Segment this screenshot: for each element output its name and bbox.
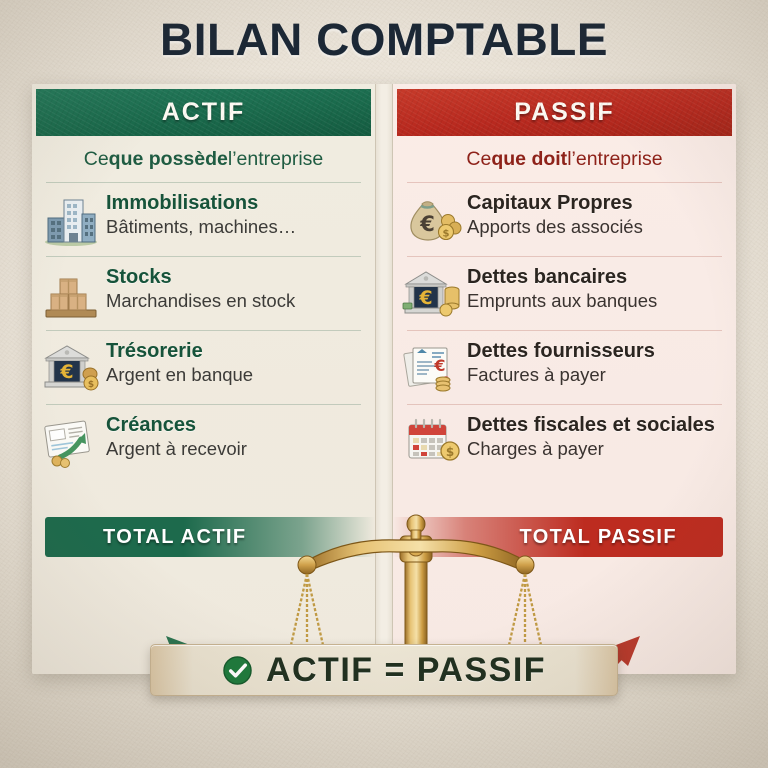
list-item-title: Dettes fournisseurs [467,341,726,363]
list-item-text: Stocks Marchandises en stock [106,266,365,311]
column-divider [375,84,393,674]
svg-text:€: € [433,356,445,375]
assets-subtitle-bold: que possède [109,148,228,171]
bank-coins-euro-icon: € [401,266,463,322]
list-item-text: Créances Argent à recevoir [106,414,365,459]
assets-header-label: ACTIF [162,98,246,127]
total-assets-bar: TOTAL ACTIF [45,517,375,557]
list-item-title: Dettes bancaires [467,267,726,289]
list-item-desc: Apports des associés [467,216,726,238]
list-item-desc: Argent à recevoir [106,438,365,460]
bank-euro-icon: € $ [40,340,102,396]
list-item[interactable]: € Dettes fournisseurs F [393,331,736,404]
liabilities-subtitle-bold: que doit [491,148,567,171]
liabilities-subtitle-prefix: Ce [466,148,491,171]
list-item[interactable]: Créances Argent à recevoir [32,405,375,478]
svg-text:€: € [419,212,435,236]
invoice-arrow-icon [40,414,102,470]
balance-sheet-card: ACTIF Ce que possède l’entreprise [32,84,736,674]
svg-text:$: $ [88,380,94,390]
equation-banner: ACTIF = PASSIF [150,644,618,696]
list-item-desc: Bâtiments, machines… [106,216,365,238]
list-item-text: Dettes bancaires Emprunts aux banques [467,266,726,311]
list-item-title: Capitaux Propres [467,193,726,215]
list-item-desc: Factures à payer [467,364,726,386]
list-item-title: Trésorerie [106,341,365,363]
liabilities-header-bar: PASSIF [397,89,732,136]
list-item-title: Stocks [106,267,365,289]
list-item[interactable]: Stocks Marchandises en stock [32,257,375,330]
assets-subtitle-prefix: Ce [84,148,109,171]
svg-text:$: $ [446,445,454,459]
assets-header-bar: ACTIF [36,89,371,136]
list-item-title: Créances [106,415,365,437]
list-item-desc: Charges à payer [467,438,726,460]
total-liabilities-bar: TOTAL PASSIF [393,517,723,557]
liabilities-column: PASSIF Ce que doit l’entreprise [393,84,736,674]
calendar-coin-icon: $ [401,414,463,470]
list-item-text: Immobilisations Bâtiments, machines… [106,192,365,237]
list-item-desc: Argent en banque [106,364,365,386]
list-item[interactable]: € $ Trésorerie Argent en banque [32,331,375,404]
list-item-text: Dettes fiscales et sociales Charges à pa… [467,414,726,459]
list-item[interactable]: € [393,257,736,330]
invoice-euro-icon: € [401,340,463,396]
list-item[interactable]: $ Dettes fiscales et sociales Charges à … [393,405,736,478]
assets-column: ACTIF Ce que possède l’entreprise [32,84,375,674]
boxes-pallet-icon [40,266,102,322]
list-item-text: Trésorerie Argent en banque [106,340,365,385]
money-bag-euro-icon: € $ [401,192,463,248]
office-buildings-icon [40,192,102,248]
list-item[interactable]: Immobilisations Bâtiments, machines… [32,183,375,256]
liabilities-subtitle: Ce que doit l’entreprise [393,136,736,182]
list-item[interactable]: € $ Capitaux Propres Apports des associé… [393,183,736,256]
liabilities-item-list: € $ Capitaux Propres Apports des associé… [393,183,736,478]
totals-row: TOTAL ACTIF TOTAL PASSIF [32,517,736,557]
equation-label: ACTIF = PASSIF [266,651,546,690]
list-item-text: Capitaux Propres Apports des associés [467,192,726,237]
poster-canvas: BILAN COMPTABLE ACTIF Ce que possède l’e… [0,0,768,768]
check-circle-icon [222,655,253,686]
list-item-desc: Emprunts aux banques [467,290,726,312]
liabilities-header-label: PASSIF [514,98,614,127]
svg-text:$: $ [443,229,450,240]
list-item-desc: Marchandises en stock [106,290,365,312]
page-title: BILAN COMPTABLE [0,14,768,66]
total-liabilities-label: TOTAL PASSIF [519,526,677,549]
svg-text:€: € [59,361,73,383]
liabilities-subtitle-suffix: l’entreprise [567,148,662,171]
assets-subtitle: Ce que possède l’entreprise [32,136,375,182]
columns-container: ACTIF Ce que possède l’entreprise [32,84,736,674]
assets-subtitle-suffix: l’entreprise [228,148,323,171]
list-item-text: Dettes fournisseurs Factures à payer [467,340,726,385]
svg-text:€: € [418,287,432,309]
list-item-title: Dettes fiscales et sociales [467,415,726,437]
assets-item-list: Immobilisations Bâtiments, machines… [32,183,375,478]
total-assets-label: TOTAL ACTIF [103,526,247,549]
list-item-title: Immobilisations [106,193,365,215]
